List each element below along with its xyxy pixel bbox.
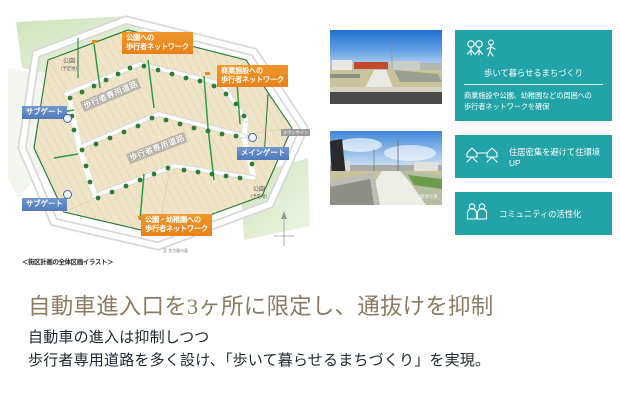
feature-card-housing-density: 住居密集を避けて住環境UP: [455, 135, 612, 178]
map-note-park-top: 公園 （予定地）: [58, 52, 80, 78]
photo-watermark: 現地写真: [420, 194, 438, 200]
bottom-copy-region: 自動車進入口を3ヶ所に限定し、通抜けを抑制 自動車の進入は抑制しつつ 歩行者専用…: [0, 275, 620, 413]
sub-gate-dot-upper: [63, 114, 72, 123]
pedestrian-path-photo-2: 現地写真: [330, 131, 442, 205]
map-caption: ＜街区計画の全体区画イラスト＞: [22, 257, 113, 266]
sub-gate-dot-lower: [63, 190, 72, 199]
feature-desc-walkable-town: 商業施設や公園、幼稚園などの周囲への 歩行者ネットワークを確保: [464, 91, 603, 112]
map-note-park-right-label: 公園: [253, 187, 265, 193]
map-label-sub-gate-upper: サブゲート: [22, 106, 67, 119]
top-region: 公園への 歩行者ネットワーク 商業施設への 歩行者ネットワーク 公園・幼稚園への…: [0, 0, 620, 275]
feature-title-community: コミュニティの活性化: [499, 208, 581, 220]
map-label-park-network: 公園への 歩行者ネットワーク: [122, 32, 193, 54]
sub-copy: 自動車の進入は抑制しつつ 歩行者専用道路を多く設け、「歩いて暮らせるまちづくり」…: [28, 327, 490, 372]
people-and-trees-icon: [464, 38, 603, 63]
community-people-icon: [465, 201, 489, 226]
feature-list: 歩いて暮らせるまちづくり 商業施設や公園、幼稚園などの周囲への 歩行者ネットワー…: [455, 30, 612, 235]
feature-card-community: コミュニティの活性化: [455, 192, 612, 235]
map-label-main-gate: メインゲート: [237, 147, 289, 160]
map-label-commercial-network: 商業施設への 歩行者ネットワーク: [217, 65, 288, 87]
map-scale-note: 至 名古屋方面: [163, 248, 188, 254]
site-plan-map: 公園への 歩行者ネットワーク 商業施設への 歩行者ネットワーク 公園・幼稚園への…: [8, 8, 318, 270]
main-gate-dot: [248, 133, 257, 142]
town-sign-text: タウンサイン: [283, 130, 308, 135]
map-label-park-kindergarten-network: 公園・幼稚園への 歩行者ネットワーク: [141, 214, 212, 236]
feature-card-walkable-town: 歩いて暮らせるまちづくり 商業施設や公園、幼稚園などの周囲への 歩行者ネットワー…: [455, 30, 612, 121]
pedestrian-path-photo-1: [330, 30, 442, 104]
spaced-houses-icon: [465, 144, 499, 169]
map-note-park-top-sub: （予定地）: [58, 66, 80, 71]
feature-title-housing-density: 住居密集を避けて住環境UP: [509, 146, 602, 168]
map-note-park-right: 公園 （予定地）: [248, 180, 270, 206]
map-label-town-sign: タウンサイン: [281, 129, 310, 136]
headline: 自動車進入口を3ヶ所に限定し、通抜けを抑制: [28, 289, 493, 321]
feature-title-walkable-town: 歩いて暮らせるまちづくり: [464, 67, 603, 85]
photo-column: 現地写真: [330, 30, 442, 205]
map-note-park-top-label: 公園: [63, 59, 75, 65]
map-label-sub-gate-lower: サブゲート: [22, 198, 67, 211]
map-note-park-right-sub: （予定地）: [248, 194, 270, 199]
